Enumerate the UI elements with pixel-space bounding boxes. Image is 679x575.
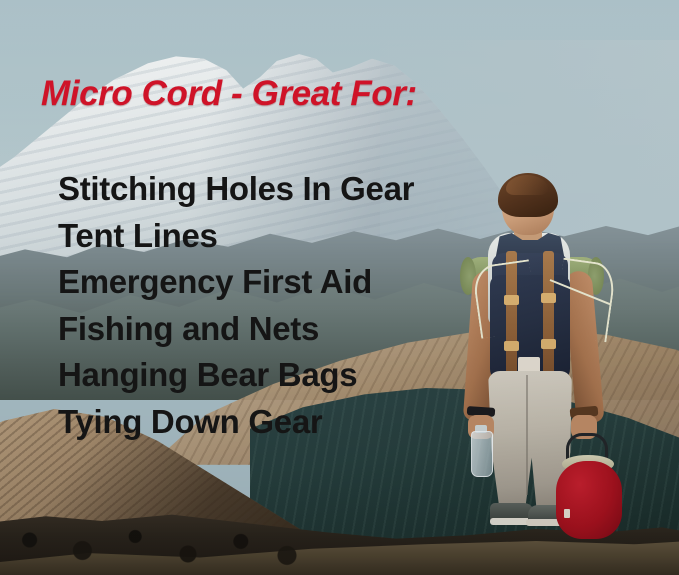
use-list-item: Stitching Holes In Gear: [58, 166, 414, 213]
red-stuff-sack: [556, 461, 622, 539]
micro-cord-left: [471, 259, 538, 338]
use-list: Stitching Holes In Gear Tent Lines Emerg…: [58, 166, 414, 445]
pants-seam: [526, 375, 528, 495]
stuff-sack-tag: [564, 509, 570, 518]
use-list-item: Hanging Bear Bags: [58, 352, 414, 399]
leather-strap-right: [543, 251, 554, 391]
buckle-left-lower: [504, 341, 519, 351]
hair-highlight: [506, 175, 548, 195]
use-list-item: Tent Lines: [58, 213, 414, 260]
headline: Micro Cord - Great For:: [41, 74, 417, 114]
micro-cord-right: [553, 258, 617, 343]
use-list-item: Fishing and Nets: [58, 306, 414, 353]
hiker-figure: [440, 175, 679, 575]
use-list-item: Emergency First Aid: [58, 259, 414, 306]
buckle-right-upper: [541, 293, 556, 303]
backpack-logo-tag: [518, 357, 540, 373]
product-lifestyle-banner: Micro Cord - Great For: Stitching Holes …: [0, 0, 679, 575]
use-list-item: Tying Down Gear: [58, 399, 414, 446]
foreground-rocks: [0, 512, 320, 575]
water-bottle: [471, 431, 493, 477]
buckle-right-lower: [541, 339, 556, 349]
